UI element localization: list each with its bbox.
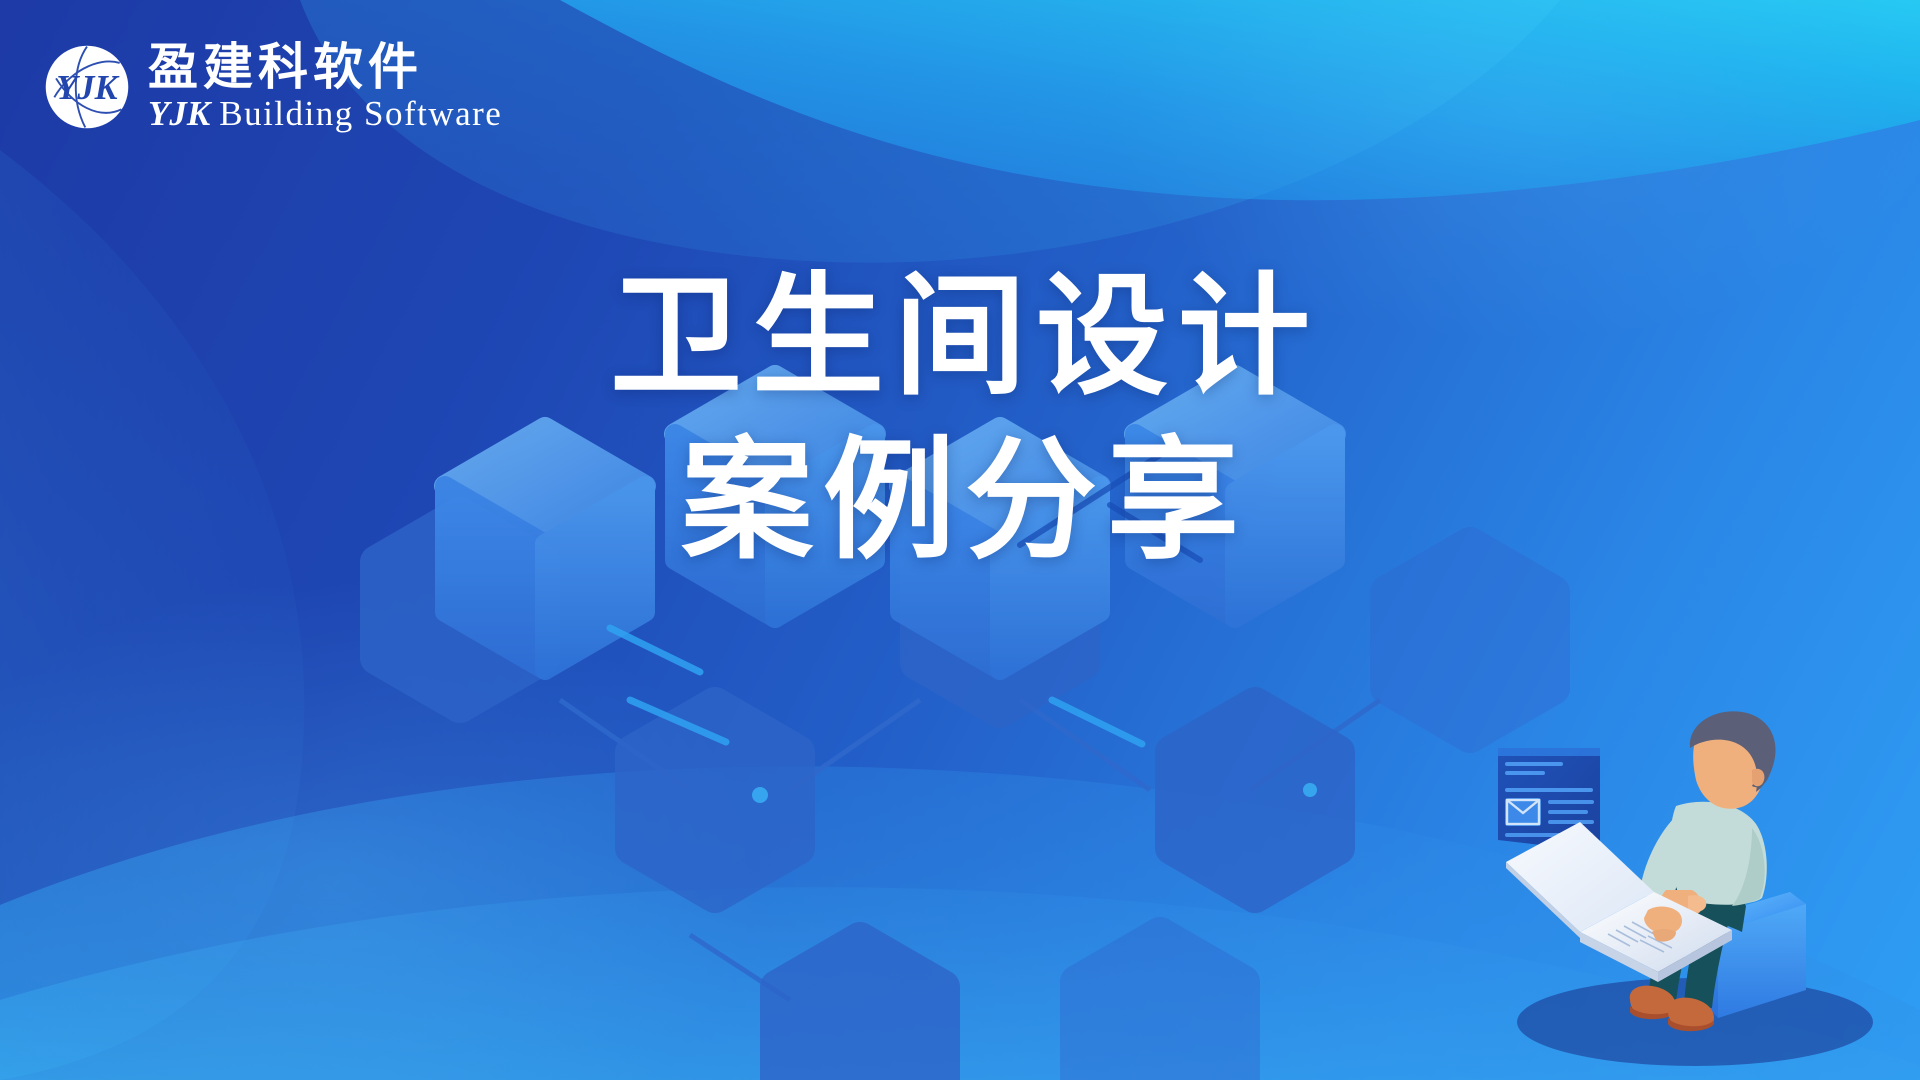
person-with-laptop-illustration [1480, 700, 1900, 1070]
brand-name-en-rest: Building Software [219, 96, 502, 131]
brand-name-en-mark: YJK [148, 96, 210, 131]
slide-title: 卫生间设计 案例分享 [0, 268, 1920, 572]
logo-monogram-text: YJK [56, 69, 119, 107]
brand-name-cn: 盈建科软件 [148, 42, 502, 92]
person-head [1690, 711, 1776, 808]
yjk-globe-logo-icon: YJK [44, 44, 130, 130]
title-slide: YJK 盈建科软件 YJK Building Software 卫生间设计 案例… [0, 0, 1920, 1080]
brand-logo[interactable]: YJK 盈建科软件 YJK Building Software [44, 42, 502, 131]
title-line-1: 卫生间设计 [600, 268, 1320, 408]
title-line-2: 案例分享 [671, 432, 1249, 572]
